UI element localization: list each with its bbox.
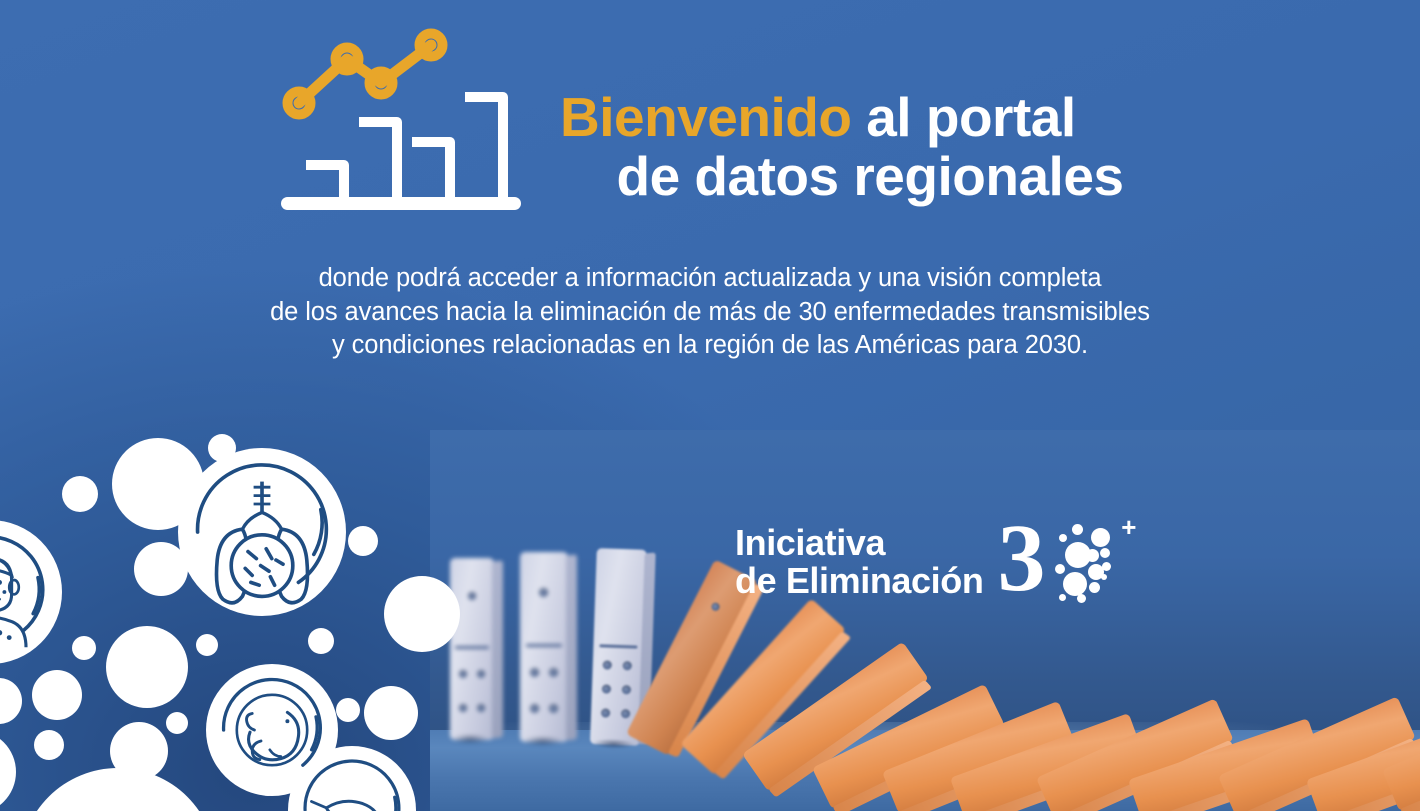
decor-bubble: [72, 636, 96, 660]
decor-bubble: [364, 686, 418, 740]
decor-bubble: [0, 678, 22, 724]
cluster-dot: [1063, 572, 1087, 596]
bubble-lungs-tb: [178, 448, 346, 616]
initiative-line-1: Iniciativa: [735, 524, 983, 562]
initiative-line-2: de Eliminación: [735, 562, 983, 600]
initiative-logo: Iniciativa de Eliminación 3 +: [735, 516, 1133, 608]
bubble-measles-child: [0, 520, 62, 664]
title-line2: de datos regionales: [560, 147, 1180, 206]
bar-chart-line-icon: [275, 25, 535, 225]
cluster-dot: [1086, 549, 1099, 562]
decor-bubble: [32, 670, 82, 720]
cluster-dot: [1101, 574, 1107, 580]
decor-bubble: [166, 712, 188, 734]
cluster-dot: [1089, 582, 1100, 593]
decor-bubble: [62, 476, 98, 512]
initiative-wordmark: Iniciativa de Eliminación: [735, 524, 983, 600]
cluster-dot: [1091, 528, 1110, 547]
measles-child-icon: [0, 520, 62, 664]
domino-standing: [520, 552, 568, 742]
cluster-dot: [1100, 548, 1110, 558]
cluster-dot: [1072, 524, 1083, 535]
cluster-dot: [1077, 594, 1086, 603]
cluster-dot: [1055, 564, 1065, 574]
decor-bubble: [348, 526, 378, 556]
title-rest: al portal: [851, 86, 1075, 148]
page-title: Bienvenido al portal de datos regionales: [560, 88, 1180, 207]
domino-photo: [430, 430, 1420, 811]
lungs-tuberculosis-icon: [178, 448, 346, 616]
decor-bubble: [106, 626, 188, 708]
bubble-mosquito: [288, 746, 416, 811]
bar-chart-logo: [275, 25, 535, 225]
decor-bubble: [336, 698, 360, 722]
mark-number-three: 3: [997, 510, 1045, 606]
cluster-dot: [1102, 562, 1111, 571]
mosquito-vector-icon: [288, 746, 416, 811]
decor-bubble: [0, 730, 16, 811]
decor-bubble: [308, 628, 334, 654]
cluster-dot: [1059, 594, 1066, 601]
thirty-plus-mark: 3 +: [997, 516, 1133, 608]
mark-plus-sign: +: [1121, 514, 1136, 540]
decor-bubble: [20, 768, 216, 811]
subtitle-line-3: y condiciones relacionadas en la región …: [0, 329, 1420, 363]
decor-bubble: [384, 576, 460, 652]
disease-bubble-cluster: [0, 430, 480, 811]
page-subtitle: donde podrá acceder a información actual…: [0, 262, 1420, 363]
cluster-dot: [1059, 534, 1067, 542]
decor-bubble: [196, 634, 218, 656]
title-highlight: Bienvenido: [560, 86, 851, 148]
subtitle-line-2: de los avances hacia la eliminación de m…: [0, 296, 1420, 330]
welcome-banner: Bienvenido al portal de datos regionales…: [0, 0, 1420, 811]
decor-bubble: [34, 730, 64, 760]
subtitle-line-1: donde podrá acceder a información actual…: [0, 262, 1420, 296]
